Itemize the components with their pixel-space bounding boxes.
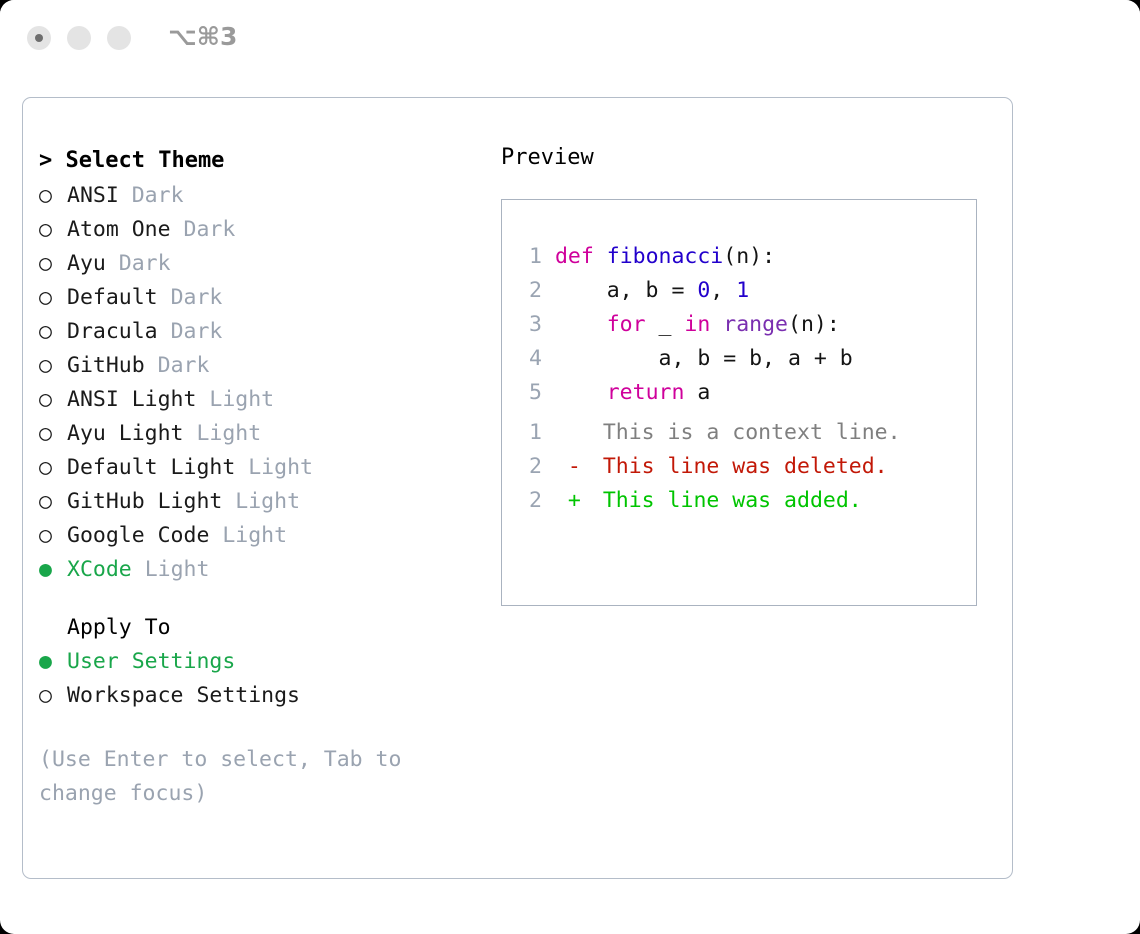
- diff-line: 1 This is a context line.: [516, 416, 970, 450]
- theme-list-item[interactable]: ●XCode Light: [39, 553, 479, 587]
- preview-column: Preview 1 def fibonacci(n):2 a, b = 0, 1…: [501, 143, 1001, 606]
- window-titlebar: ⌥⌘3: [0, 0, 1140, 78]
- code-token: fibonacci: [607, 244, 724, 269]
- theme-name: Ayu Light: [67, 421, 184, 446]
- radio-unselected-icon[interactable]: ○: [39, 485, 67, 519]
- radio-unselected-icon[interactable]: ○: [39, 679, 67, 713]
- theme-list[interactable]: ○ANSI Dark○Atom One Dark○Ayu Dark○Defaul…: [39, 179, 479, 587]
- code-token: 1: [736, 278, 749, 303]
- keyboard-hint-text: (Use Enter to select, Tab to change focu…: [39, 743, 459, 811]
- diff-sample: 1 This is a context line.2 - This line w…: [516, 416, 970, 518]
- code-token: [555, 312, 607, 337]
- diff-line-number: 2: [516, 450, 542, 484]
- theme-name: Atom One: [67, 217, 171, 242]
- theme-variant-label: Dark: [119, 251, 171, 276]
- code-token: [555, 380, 607, 405]
- theme-picker-panel: > Select Theme ○ANSI Dark○Atom One Dark○…: [22, 97, 1013, 879]
- preview-title: Preview: [501, 143, 1001, 173]
- line-number: 1: [516, 240, 542, 274]
- radio-unselected-icon[interactable]: ○: [39, 213, 67, 247]
- code-token: in: [684, 312, 710, 337]
- radio-unselected-icon[interactable]: ○: [39, 519, 67, 553]
- code-token: _: [646, 312, 685, 337]
- theme-list-item[interactable]: ○Google Code Light: [39, 519, 479, 553]
- theme-list-item[interactable]: ○Atom One Dark: [39, 213, 479, 247]
- theme-variant-label: Light: [248, 455, 313, 480]
- apply-to-list[interactable]: ●User Settings○Workspace Settings: [39, 645, 479, 713]
- theme-variant-label: Dark: [158, 353, 210, 378]
- theme-variant-label: Light: [235, 489, 300, 514]
- code-line: 5 return a: [516, 376, 970, 410]
- theme-list-item[interactable]: ○GitHub Dark: [39, 349, 479, 383]
- radio-unselected-icon[interactable]: ○: [39, 349, 67, 383]
- diff-text: This line was deleted.: [590, 454, 888, 479]
- line-number: 5: [516, 376, 542, 410]
- theme-variant-label: Light: [145, 557, 210, 582]
- theme-name: ANSI Light: [67, 387, 196, 412]
- theme-name: Default Light: [67, 455, 235, 480]
- diff-text: This is a context line.: [590, 420, 901, 445]
- code-token: [594, 244, 607, 269]
- theme-list-item[interactable]: ○Ayu Dark: [39, 247, 479, 281]
- radio-unselected-icon[interactable]: ○: [39, 315, 67, 349]
- theme-variant-label: Dark: [132, 183, 184, 208]
- theme-selection-column: > Select Theme ○ANSI Dark○Atom One Dark○…: [39, 143, 479, 811]
- line-number: 4: [516, 342, 542, 376]
- code-token: range: [723, 312, 788, 337]
- apply-to-item[interactable]: ○Workspace Settings: [39, 679, 479, 713]
- code-token: a, b = b, a + b: [555, 346, 853, 371]
- radio-selected-icon[interactable]: ●: [39, 645, 67, 679]
- theme-list-item[interactable]: ○ANSI Dark: [39, 179, 479, 213]
- theme-name: GitHub Light: [67, 489, 222, 514]
- theme-name: Default: [67, 285, 158, 310]
- radio-unselected-icon[interactable]: ○: [39, 281, 67, 315]
- code-token: def: [555, 244, 594, 269]
- code-token: for: [607, 312, 646, 337]
- apply-to-item[interactable]: ●User Settings: [39, 645, 479, 679]
- radio-unselected-icon[interactable]: ○: [39, 383, 67, 417]
- diff-sign: [568, 416, 590, 450]
- traffic-light-maximize[interactable]: [107, 26, 131, 50]
- radio-unselected-icon[interactable]: ○: [39, 247, 67, 281]
- diff-sign: -: [568, 450, 590, 484]
- traffic-light-close[interactable]: [27, 26, 51, 50]
- diff-text: This line was added.: [590, 488, 862, 513]
- theme-list-item[interactable]: ○GitHub Light Light: [39, 485, 479, 519]
- theme-variant-label: Light: [209, 387, 274, 412]
- code-line: 2 a, b = 0, 1: [516, 274, 970, 308]
- theme-name: Ayu: [67, 251, 106, 276]
- code-token: 0: [697, 278, 710, 303]
- terminal-window: ⌥⌘3 > Select Theme ○ANSI Dark○Atom One D…: [0, 0, 1140, 934]
- code-token: return: [607, 380, 685, 405]
- theme-variant-label: Dark: [184, 217, 236, 242]
- theme-variant-label: Light: [196, 421, 261, 446]
- theme-variant-label: Dark: [171, 319, 223, 344]
- keyboard-shortcut-label: ⌥⌘3: [168, 22, 237, 51]
- theme-variant-label: Dark: [171, 285, 223, 310]
- radio-unselected-icon[interactable]: ○: [39, 451, 67, 485]
- diff-sign: +: [568, 484, 590, 518]
- theme-list-item[interactable]: ○Default Light Light: [39, 451, 479, 485]
- select-theme-header: > Select Theme: [39, 143, 479, 179]
- apply-to-label: User Settings: [67, 649, 235, 674]
- traffic-light-minimize[interactable]: [67, 26, 91, 50]
- line-number: 2: [516, 274, 542, 308]
- diff-line-number: 2: [516, 484, 542, 518]
- radio-selected-icon[interactable]: ●: [39, 553, 67, 587]
- apply-to-header: Apply To: [39, 611, 479, 645]
- theme-name: Dracula: [67, 319, 158, 344]
- theme-list-item[interactable]: ○Ayu Light Light: [39, 417, 479, 451]
- radio-unselected-icon[interactable]: ○: [39, 179, 67, 213]
- diff-line: 2 - This line was deleted.: [516, 450, 970, 484]
- code-line: 3 for _ in range(n):: [516, 308, 970, 342]
- diff-line: 2 + This line was added.: [516, 484, 970, 518]
- theme-name: ANSI: [67, 183, 119, 208]
- code-token: a: [684, 380, 710, 405]
- code-token: ,: [710, 278, 736, 303]
- code-sample: 1 def fibonacci(n):2 a, b = 0, 13 for _ …: [516, 240, 970, 410]
- code-token: a, b =: [555, 278, 697, 303]
- theme-name: XCode: [67, 557, 132, 582]
- theme-variant-label: Light: [222, 523, 287, 548]
- diff-line-number: 1: [516, 416, 542, 450]
- preview-box: 1 def fibonacci(n):2 a, b = 0, 13 for _ …: [501, 199, 977, 606]
- theme-list-item[interactable]: ○Dracula Dark: [39, 315, 479, 349]
- code-token: [710, 312, 723, 337]
- code-token: (n):: [723, 244, 775, 269]
- theme-name: GitHub: [67, 353, 145, 378]
- line-number: 3: [516, 308, 542, 342]
- theme-list-item[interactable]: ○ANSI Light Light: [39, 383, 479, 417]
- radio-unselected-icon[interactable]: ○: [39, 417, 67, 451]
- code-line: 1 def fibonacci(n):: [516, 240, 970, 274]
- code-line: 4 a, b = b, a + b: [516, 342, 970, 376]
- apply-to-label: Workspace Settings: [67, 683, 300, 708]
- theme-name: Google Code: [67, 523, 209, 548]
- theme-list-item[interactable]: ○Default Dark: [39, 281, 479, 315]
- code-token: (n):: [788, 312, 840, 337]
- apply-to-section: Apply To ●User Settings○Workspace Settin…: [39, 611, 479, 713]
